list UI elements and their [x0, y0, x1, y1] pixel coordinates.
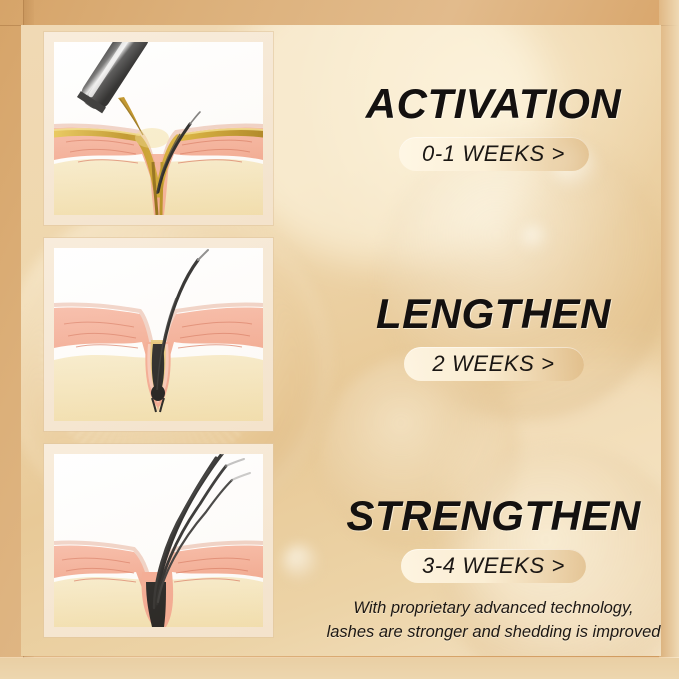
footnote-line-2: lashes are stronger and shedding is impr…	[311, 621, 661, 645]
stage-duration-label-activation: 0-1 WEEKS >	[422, 141, 565, 167]
stage-text-lengthen: LENGTHEN 2 WEEKS >	[311, 293, 661, 381]
stage-panel-lengthen	[44, 238, 273, 431]
stage-duration-pill-activation[interactable]: 0-1 WEEKS >	[399, 137, 589, 171]
stage-panel-strengthen	[44, 444, 273, 637]
stage-text-activation: ACTIVATION 0-1 WEEKS >	[311, 83, 661, 171]
infographic-root: ACTIVATION 0-1 WEEKS > LENGTHEN 2 WEEKS …	[0, 0, 679, 679]
follicle-serum-svg	[54, 42, 263, 215]
frame-right-band	[659, 0, 679, 679]
illustration-activation	[54, 42, 263, 215]
stage-headline-lengthen: LENGTHEN	[311, 293, 661, 335]
stage-duration-pill-lengthen[interactable]: 2 WEEKS >	[404, 347, 584, 381]
stage-duration-pill-strengthen[interactable]: 3-4 WEEKS >	[401, 549, 586, 583]
frame-bottom-band	[0, 658, 679, 679]
stage-headline-activation: ACTIVATION	[311, 83, 661, 125]
footnote-line-1: With proprietary advanced technology,	[311, 597, 661, 621]
illustration-strengthen	[54, 454, 263, 627]
illustration-lengthen	[54, 248, 263, 421]
follicle-single-lash-svg	[54, 248, 263, 421]
content-canvas: ACTIVATION 0-1 WEEKS > LENGTHEN 2 WEEKS …	[21, 25, 661, 656]
stage-headline-strengthen: STRENGTHEN	[311, 495, 661, 537]
follicle-multi-lash-svg	[54, 454, 263, 627]
stage-duration-label-lengthen: 2 WEEKS >	[432, 351, 554, 377]
stage-text-strengthen: STRENGTHEN 3-4 WEEKS > With proprietary …	[311, 495, 661, 645]
footnote-text: With proprietary advanced technology, la…	[311, 597, 661, 645]
stage-duration-label-strengthen: 3-4 WEEKS >	[422, 553, 565, 579]
background-bubble-small-2	[521, 225, 549, 253]
stage-panel-activation	[44, 32, 273, 225]
